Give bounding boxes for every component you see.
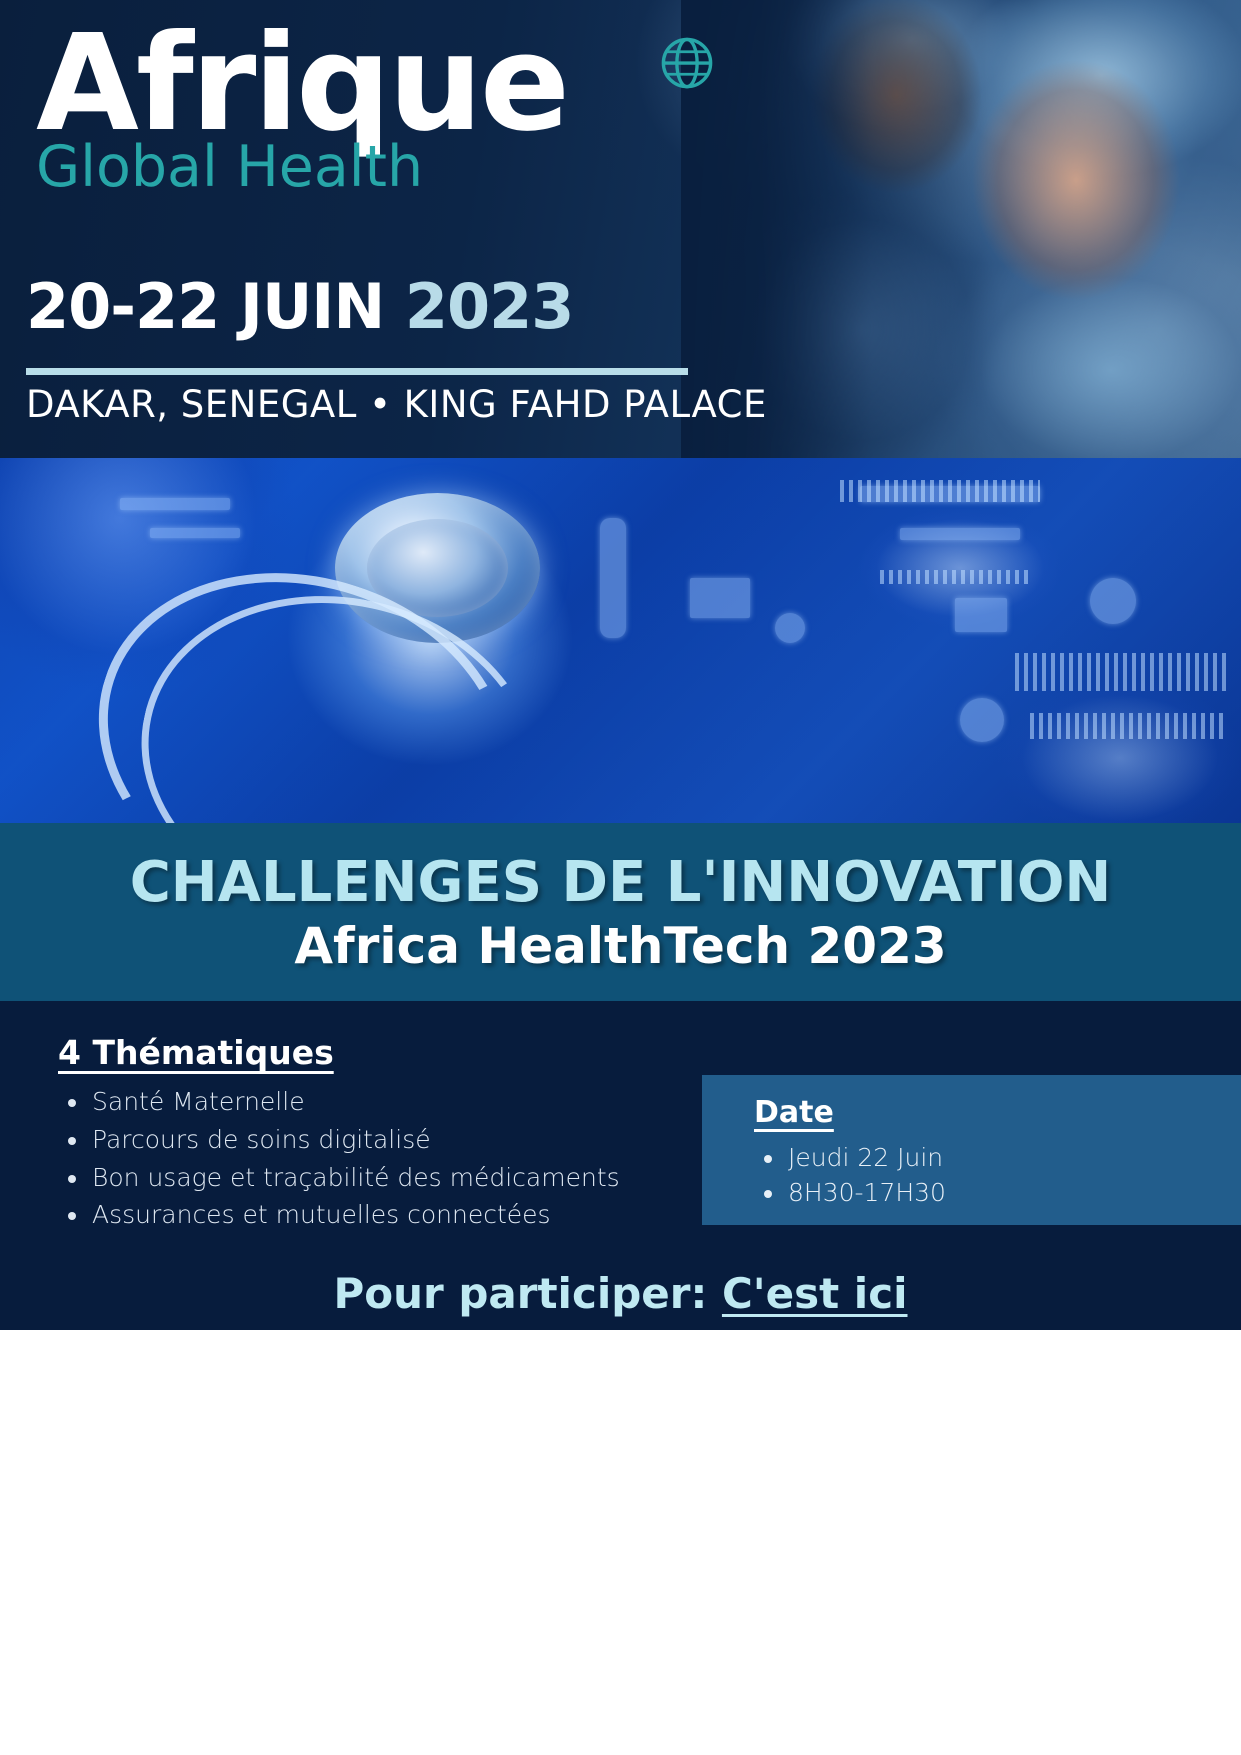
globe-icon xyxy=(660,36,714,90)
footer-logos: DAXHO Healthcare Performance and Innovat… xyxy=(0,1331,1241,1755)
cta-band: Pour participer: C'est ici xyxy=(0,1257,1241,1330)
brand-name-secondary: Global Health xyxy=(36,139,736,196)
event-venue: DAKAR, SENEGAL • KING FAHD PALACE xyxy=(26,385,767,426)
hero-logo-block: Afrique Global Health xyxy=(36,18,736,196)
content-band: 4 Thématiques Santé Maternelle Parcours … xyxy=(0,1001,1241,1258)
date-box: Date Jeudi 22 Juin 8H30-17H30 xyxy=(702,1075,1241,1225)
brand-name-primary: Afrique xyxy=(36,18,736,151)
list-item: Bon usage et traçabilité des médicaments xyxy=(58,1164,658,1193)
list-item: Jeudi 22 Juin xyxy=(754,1144,1241,1173)
event-dates-year: 2023 xyxy=(405,270,574,343)
event-dates-days: 20-22 JUIN xyxy=(26,270,384,343)
list-item: Santé Maternelle xyxy=(58,1088,658,1117)
cta-prefix: Pour participer: xyxy=(333,1269,721,1318)
page-title: CHALLENGES DE L'INNOVATION xyxy=(130,854,1112,913)
themes-heading: 4 Thématiques xyxy=(58,1033,334,1072)
page-subtitle: Africa HealthTech 2023 xyxy=(294,919,946,974)
hero-banner: Afrique Global Health 20-22 JUIN 2023 DA… xyxy=(0,0,1241,458)
list-item: Parcours de soins digitalisé xyxy=(58,1126,658,1155)
themes-list: Santé Maternelle Parcours de soins digit… xyxy=(58,1088,658,1230)
event-poster: Afrique Global Health 20-22 JUIN 2023 DA… xyxy=(0,0,1241,1755)
list-item: 8H30-17H30 xyxy=(754,1179,1241,1208)
title-band: CHALLENGES DE L'INNOVATION Africa Health… xyxy=(0,823,1241,1001)
tech-image-band xyxy=(0,458,1241,823)
date-list: Jeudi 22 Juin 8H30-17H30 xyxy=(754,1144,1241,1208)
date-heading: Date xyxy=(754,1095,834,1130)
register-link[interactable]: C'est ici xyxy=(722,1269,908,1318)
themes-section: 4 Thématiques Santé Maternelle Parcours … xyxy=(58,1033,658,1239)
cta-line: Pour participer: C'est ici xyxy=(333,1269,907,1318)
list-item: Assurances et mutuelles connectées xyxy=(58,1201,658,1230)
event-dates: 20-22 JUIN 2023 xyxy=(26,276,573,338)
hero-divider xyxy=(26,368,688,375)
